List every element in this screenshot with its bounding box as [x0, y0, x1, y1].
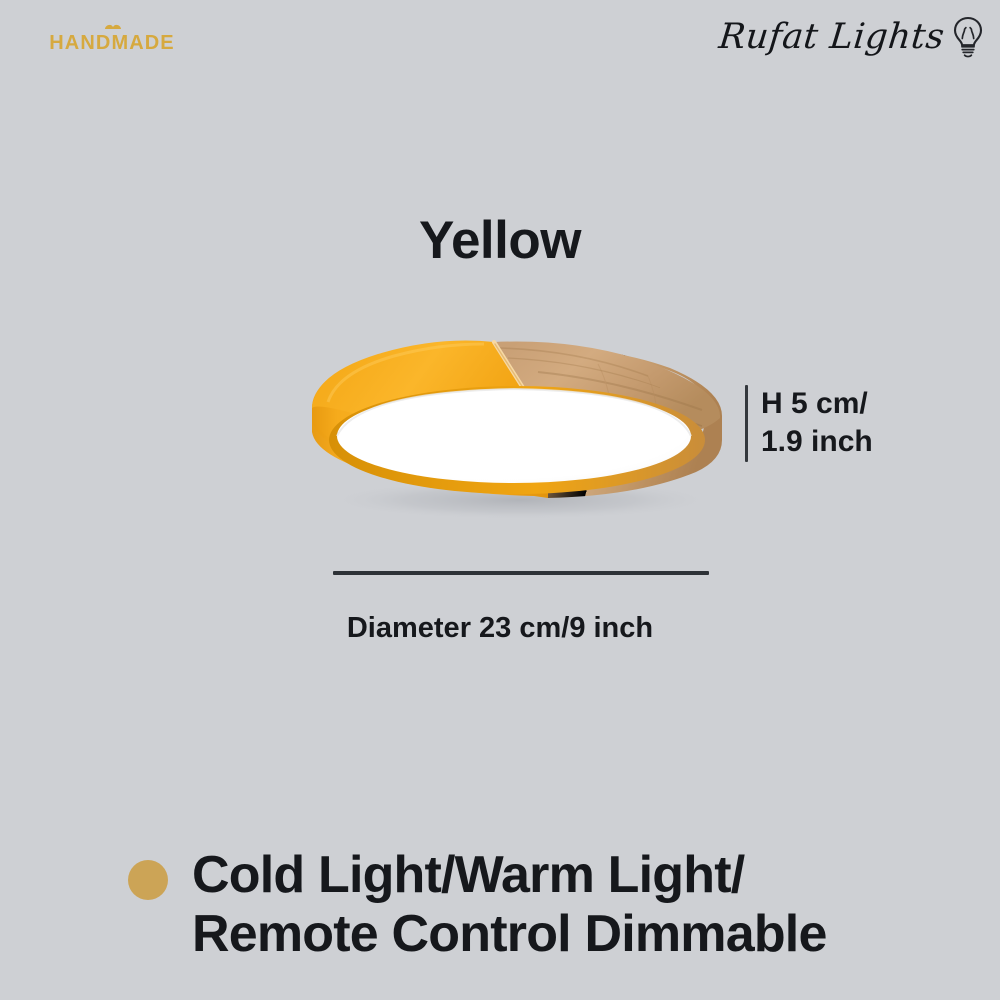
- height-label-line2: 1.9 inch: [761, 423, 941, 461]
- feature-row: Cold Light/Warm Light/ Remote Control Di…: [128, 846, 960, 965]
- product-image-lamp: [298, 328, 734, 522]
- lightbulb-icon: [948, 15, 988, 59]
- product-color-title: Yellow: [0, 210, 1000, 271]
- height-measure-label: H 5 cm/ 1.9 inch: [761, 385, 941, 462]
- product-image-canvas: HANDMADE Rufat Lights Yellow: [0, 0, 1000, 1000]
- handmade-badge: HANDMADE: [34, 18, 194, 60]
- feature-label: Cold Light/Warm Light/ Remote Control Di…: [192, 846, 827, 965]
- handmade-badge-label: HANDMADE: [34, 29, 190, 58]
- brand-logo: Rufat Lights: [719, 6, 988, 68]
- diameter-measure-line: [333, 571, 709, 575]
- feature-bullet-icon: [128, 860, 168, 900]
- height-measure-bar: [745, 385, 748, 462]
- diameter-measure-label: Diameter 23 cm/9 inch: [0, 612, 1000, 645]
- ceiling-lamp-illustration: [298, 328, 734, 522]
- height-label-line1: H 5 cm/: [761, 385, 941, 423]
- brand-name: Rufat Lights: [717, 17, 947, 57]
